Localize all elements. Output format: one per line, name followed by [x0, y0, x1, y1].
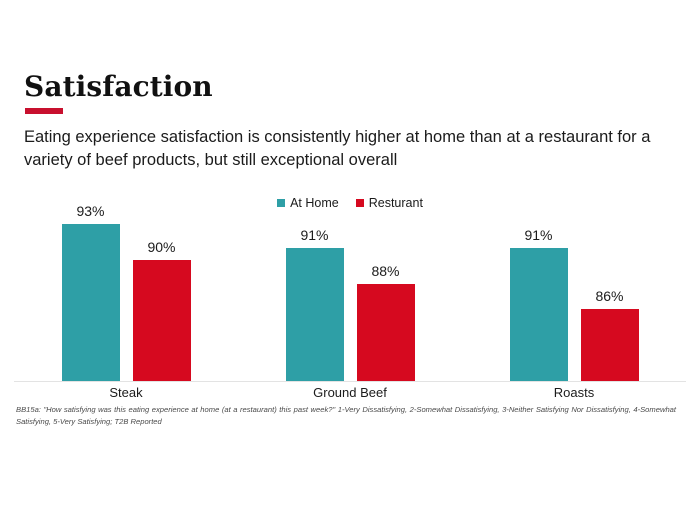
bar-steak-resturant[interactable] — [133, 260, 191, 381]
x-axis-label-ground-beef: Ground Beef — [238, 386, 462, 399]
page-title: Satisfaction — [24, 73, 213, 101]
bar-wrap-steak-resturant: 90% — [133, 212, 191, 381]
bar-value-ground-beef-at-home: 91% — [300, 228, 328, 242]
legend-item-resturant[interactable]: Resturant — [356, 197, 423, 210]
bar-wrap-roasts-at-home: 91% — [510, 212, 568, 381]
bar-value-roasts-resturant: 86% — [595, 289, 623, 303]
slide-canvas: Satisfaction Eating experience satisfact… — [0, 0, 700, 526]
bar-steak-at-home[interactable] — [62, 224, 120, 381]
legend-item-at-home[interactable]: At Home — [277, 197, 339, 210]
bar-ground-beef-resturant[interactable] — [357, 284, 415, 381]
bar-wrap-ground-beef-at-home: 91% — [286, 212, 344, 381]
bar-wrap-steak-at-home: 93% — [62, 212, 120, 381]
bar-roasts-at-home[interactable] — [510, 248, 568, 381]
bar-group-ground-beef: 91% 88% — [238, 212, 462, 381]
bar-ground-beef-at-home[interactable] — [286, 248, 344, 381]
bar-group-roasts: 91% 86% — [462, 212, 686, 381]
bar-value-steak-resturant: 90% — [147, 240, 175, 254]
bar-value-steak-at-home: 93% — [76, 204, 104, 218]
legend-swatch-at-home — [277, 199, 285, 207]
x-axis-label-steak: Steak — [14, 386, 238, 399]
legend-label-resturant: Resturant — [369, 197, 423, 210]
bar-wrap-roasts-resturant: 86% — [581, 212, 639, 381]
chart-legend: At Home Resturant — [0, 197, 700, 210]
bar-value-roasts-at-home: 91% — [524, 228, 552, 242]
bar-group-steak: 93% 90% — [14, 212, 238, 381]
bar-groups: 93% 90% 91% 88% — [14, 212, 686, 381]
bar-roasts-resturant[interactable] — [581, 309, 639, 381]
legend-label-at-home: At Home — [290, 197, 339, 210]
x-axis-line — [14, 381, 686, 382]
legend-swatch-resturant — [356, 199, 364, 207]
chart-footnote: BB15a: "How satisfying was this eating e… — [16, 404, 676, 428]
title-accent-rule — [25, 108, 63, 114]
bar-wrap-ground-beef-resturant: 88% — [357, 212, 415, 381]
x-axis-category-labels: Steak Ground Beef Roasts — [14, 386, 686, 399]
bar-chart-plot-area: 93% 90% 91% 88% — [14, 212, 686, 382]
x-axis-label-roasts: Roasts — [462, 386, 686, 399]
page-subtitle: Eating experience satisfaction is consis… — [24, 126, 664, 171]
bar-value-ground-beef-resturant: 88% — [371, 264, 399, 278]
